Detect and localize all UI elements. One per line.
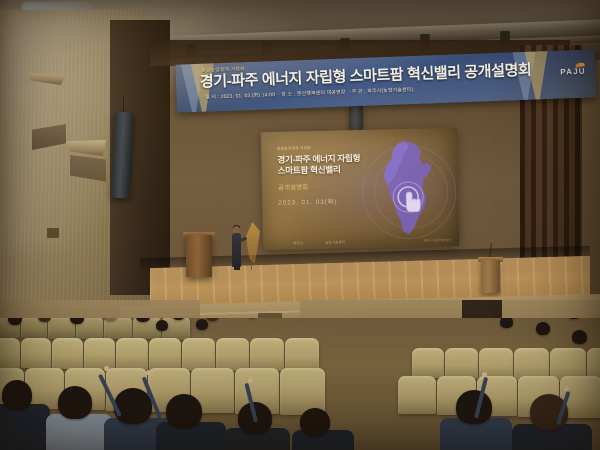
raised-hand: [248, 378, 253, 383]
seat: [182, 338, 215, 371]
audience-head: [196, 319, 208, 330]
audience-shoulders: [0, 404, 50, 450]
audience-head: [568, 318, 580, 319]
raised-hand: [482, 372, 487, 377]
audience-head: [58, 386, 92, 419]
seat: [412, 348, 444, 378]
seat: [116, 338, 148, 370]
screen-title-line2: 스마트팜 혁신밸리: [277, 163, 387, 176]
audience-head: [536, 322, 550, 335]
projection-screen: 통일농업경제 거점화 경기-파주 에너지 자립형 스마트팜 혁신밸리 공개설명회…: [261, 128, 459, 250]
auditorium-photo: 통일농업경제 거점화 경기-파주 에너지 자립형 스마트팜 혁신밸리 공개설명회…: [0, 0, 600, 450]
seat: [21, 338, 51, 368]
seat-row: [0, 338, 319, 372]
audience-head: [156, 320, 168, 331]
lectern: [481, 260, 500, 293]
audience-head: [114, 388, 152, 424]
seat: [104, 318, 132, 339]
screen-logo-row: 파주시 농업기술센터: [293, 239, 345, 245]
audience-head: [572, 330, 587, 344]
seat: [250, 338, 284, 371]
audience-head: [300, 408, 330, 436]
seat: [149, 338, 181, 370]
seat: [398, 376, 436, 414]
seat: [445, 348, 478, 379]
raised-hand: [146, 370, 151, 375]
audience-head: [2, 380, 32, 410]
raised-hand: [564, 386, 569, 391]
seat: [285, 338, 319, 372]
audience-area: [0, 318, 600, 450]
seat: [216, 338, 249, 371]
seat: [84, 338, 115, 369]
screen-kicker: 통일농업경제 거점화: [277, 145, 387, 151]
line-array-speaker: [349, 104, 363, 130]
audience-head: [456, 390, 492, 424]
seat-row-right: [398, 376, 600, 418]
wall-vent: [47, 228, 59, 238]
screen-credit: 파주시 농업기술센터: [424, 237, 451, 243]
audience-head: [206, 318, 219, 321]
presenter-legs: [234, 262, 240, 270]
seat: [52, 338, 83, 369]
audience-shoulders: [46, 414, 112, 450]
screen-logo-2: 농업기술센터: [325, 239, 345, 244]
audience-head: [500, 318, 513, 328]
screen-badge: 공개설명회: [278, 180, 388, 191]
screen-logo-1: 파주시: [293, 240, 303, 245]
paju-logo-text: PAJU: [560, 67, 586, 77]
seat: [0, 338, 20, 368]
podium: [186, 235, 212, 277]
audience-head: [166, 394, 202, 428]
